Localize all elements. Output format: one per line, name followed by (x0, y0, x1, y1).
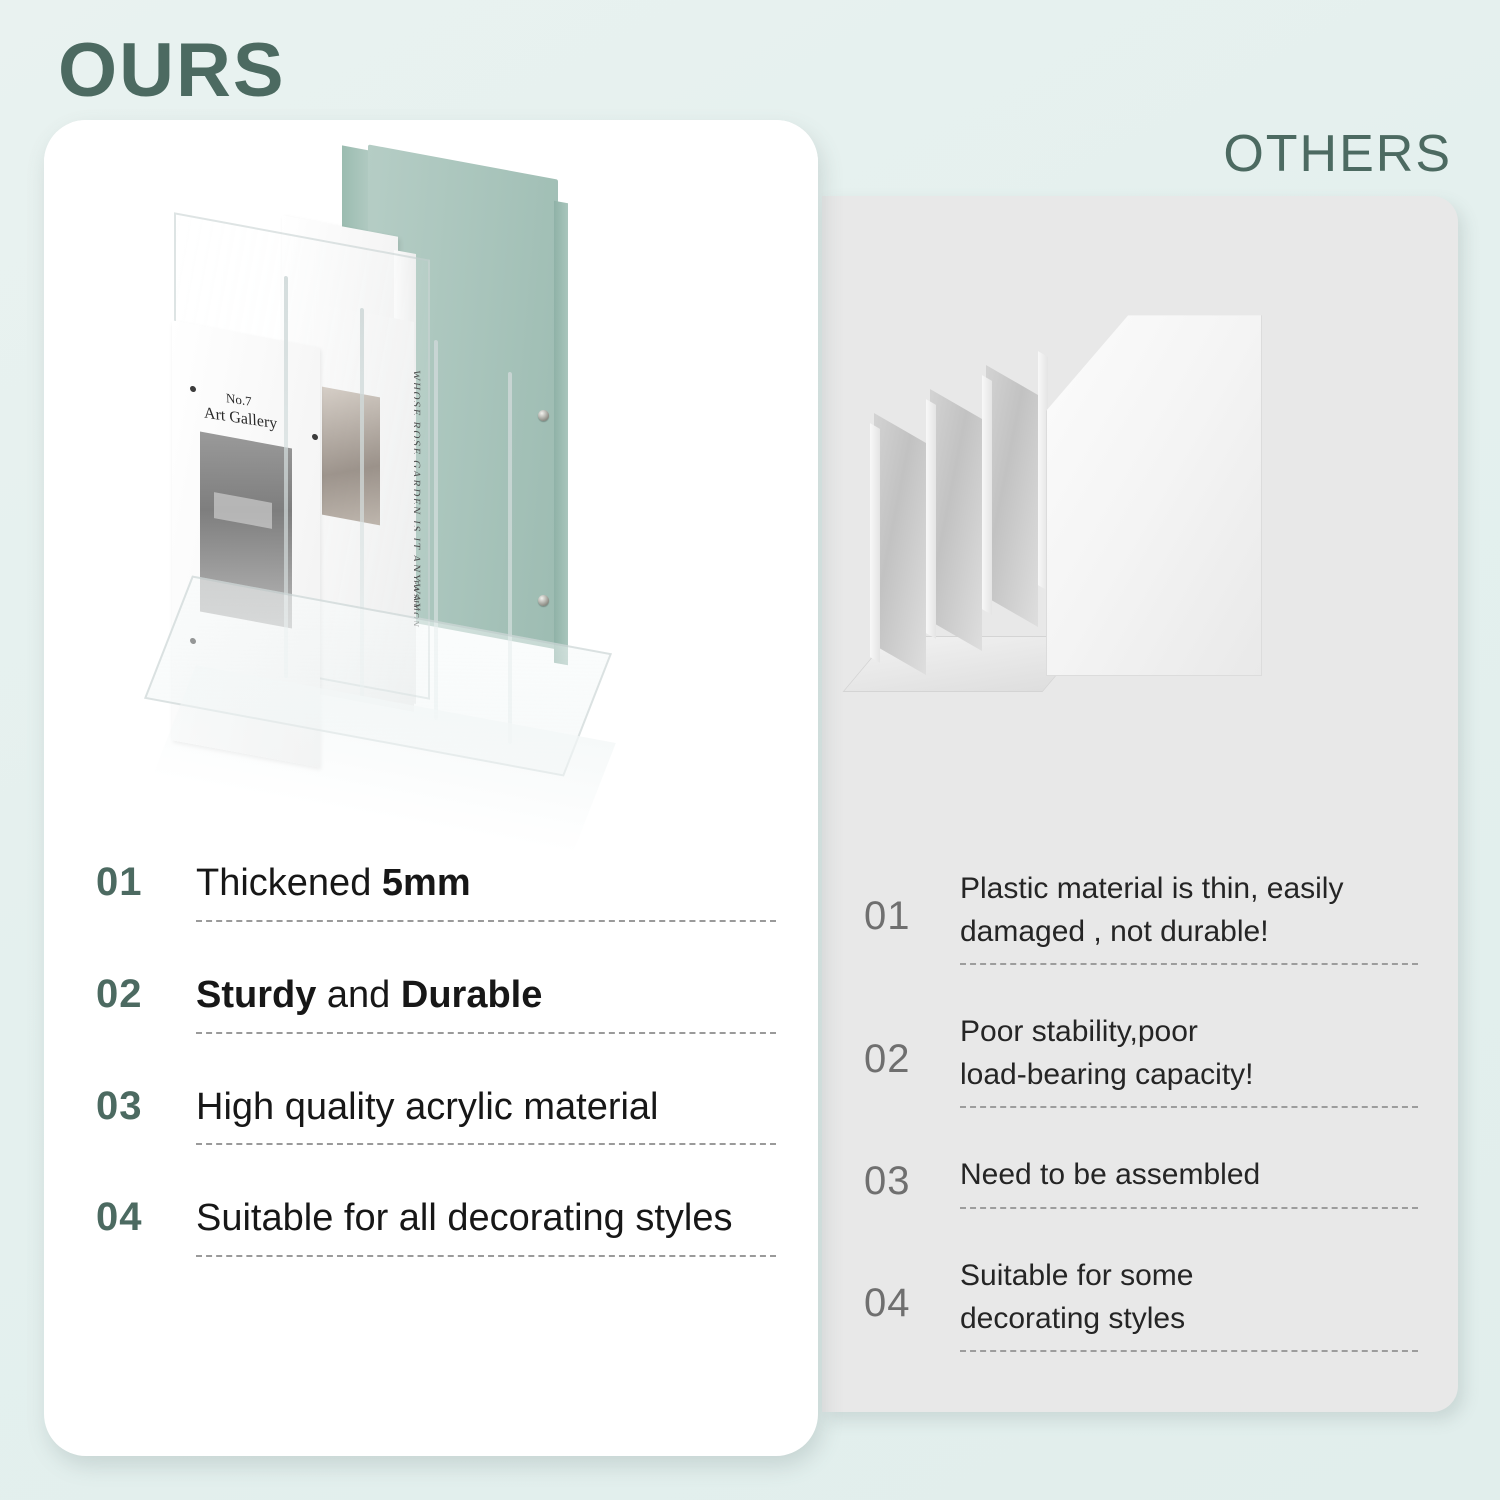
list-item-label: Sturdy and Durable (196, 973, 776, 1018)
binder-rivet-icon (538, 595, 549, 606)
binder-edge (554, 201, 568, 666)
ours-feature-list: 01 Thickened 5mm 02 Sturdy and Durable 0… (96, 860, 776, 1265)
acrylic-organizer-illustration: WHOSE ROSE GARDEN IS IT ANYWAY FASHION N… (164, 140, 724, 800)
magazine-hole-icon (312, 433, 318, 440)
plastic-organizer-illustration (846, 286, 1438, 786)
list-item: 03 High quality acrylic material (96, 1084, 776, 1154)
list-item-number: 03 (864, 1159, 960, 1204)
organizer-divider (926, 399, 936, 639)
list-item: 02 Poor stability,poorload-bearing capac… (864, 1011, 1418, 1108)
others-panel: 01 Plastic material is thin, easilydamag… (822, 196, 1458, 1412)
list-item-label: Thickened 5mm (196, 861, 776, 906)
list-item: 04 Suitable for all decorating styles (96, 1195, 776, 1265)
ours-panel: WHOSE ROSE GARDEN IS IT ANYWAY FASHION N… (44, 120, 818, 1456)
magazine-hole-icon (190, 385, 196, 392)
list-item-underline: High quality acrylic material (196, 1085, 776, 1146)
list-item: 01 Plastic material is thin, easilydamag… (864, 868, 1418, 965)
ours-product-image: WHOSE ROSE GARDEN IS IT ANYWAY FASHION N… (44, 120, 818, 820)
comparison-infographic: 01 Plastic material is thin, easilydamag… (0, 0, 1500, 1500)
list-item-label: Suitable for somedecorating styles (960, 1255, 1418, 1340)
binder-rivet-icon (538, 410, 549, 421)
list-item: 04 Suitable for somedecorating styles (864, 1255, 1418, 1352)
organizer-divider (870, 423, 880, 663)
list-item: 01 Thickened 5mm (96, 860, 776, 930)
organizer-divider (982, 375, 992, 615)
list-item-label: Suitable for all decorating styles (196, 1196, 776, 1241)
list-item-label: High quality acrylic material (196, 1085, 776, 1130)
list-item-label: Plastic material is thin, easilydamaged … (960, 868, 1418, 953)
list-item-underline: Suitable for all decorating styles (196, 1196, 776, 1257)
list-item-number: 01 (96, 860, 196, 905)
list-item-underline: Plastic material is thin, easilydamaged … (960, 868, 1418, 965)
others-feature-list: 01 Plastic material is thin, easilydamag… (864, 868, 1418, 1352)
organizer-slot (874, 413, 926, 675)
list-item: 03 Need to be assembled (864, 1154, 1418, 1209)
organizer-side-wall (1046, 308, 1262, 676)
list-item-number: 04 (864, 1281, 960, 1326)
list-item: 02 Sturdy and Durable (96, 972, 776, 1042)
list-item-number: 02 (96, 972, 196, 1017)
organizer-slot (986, 365, 1038, 627)
list-item-underline: Thickened 5mm (196, 861, 776, 922)
list-item-number: 01 (864, 894, 960, 939)
list-item-underline: Suitable for somedecorating styles (960, 1255, 1418, 1352)
list-item-number: 04 (96, 1195, 196, 1240)
others-product-image (822, 196, 1458, 816)
list-item-number: 02 (864, 1037, 960, 1082)
list-item-underline: Poor stability,poorload-bearing capacity… (960, 1011, 1418, 1108)
list-item-underline: Need to be assembled (960, 1154, 1418, 1209)
ours-title: OURS (58, 33, 286, 109)
organizer-slot (930, 389, 982, 651)
list-item-label: Poor stability,poorload-bearing capacity… (960, 1011, 1418, 1096)
list-item-label: Need to be assembled (960, 1154, 1418, 1197)
list-item-number: 03 (96, 1084, 196, 1129)
others-title: OTHERS (1223, 128, 1452, 180)
list-item-underline: Sturdy and Durable (196, 973, 776, 1034)
